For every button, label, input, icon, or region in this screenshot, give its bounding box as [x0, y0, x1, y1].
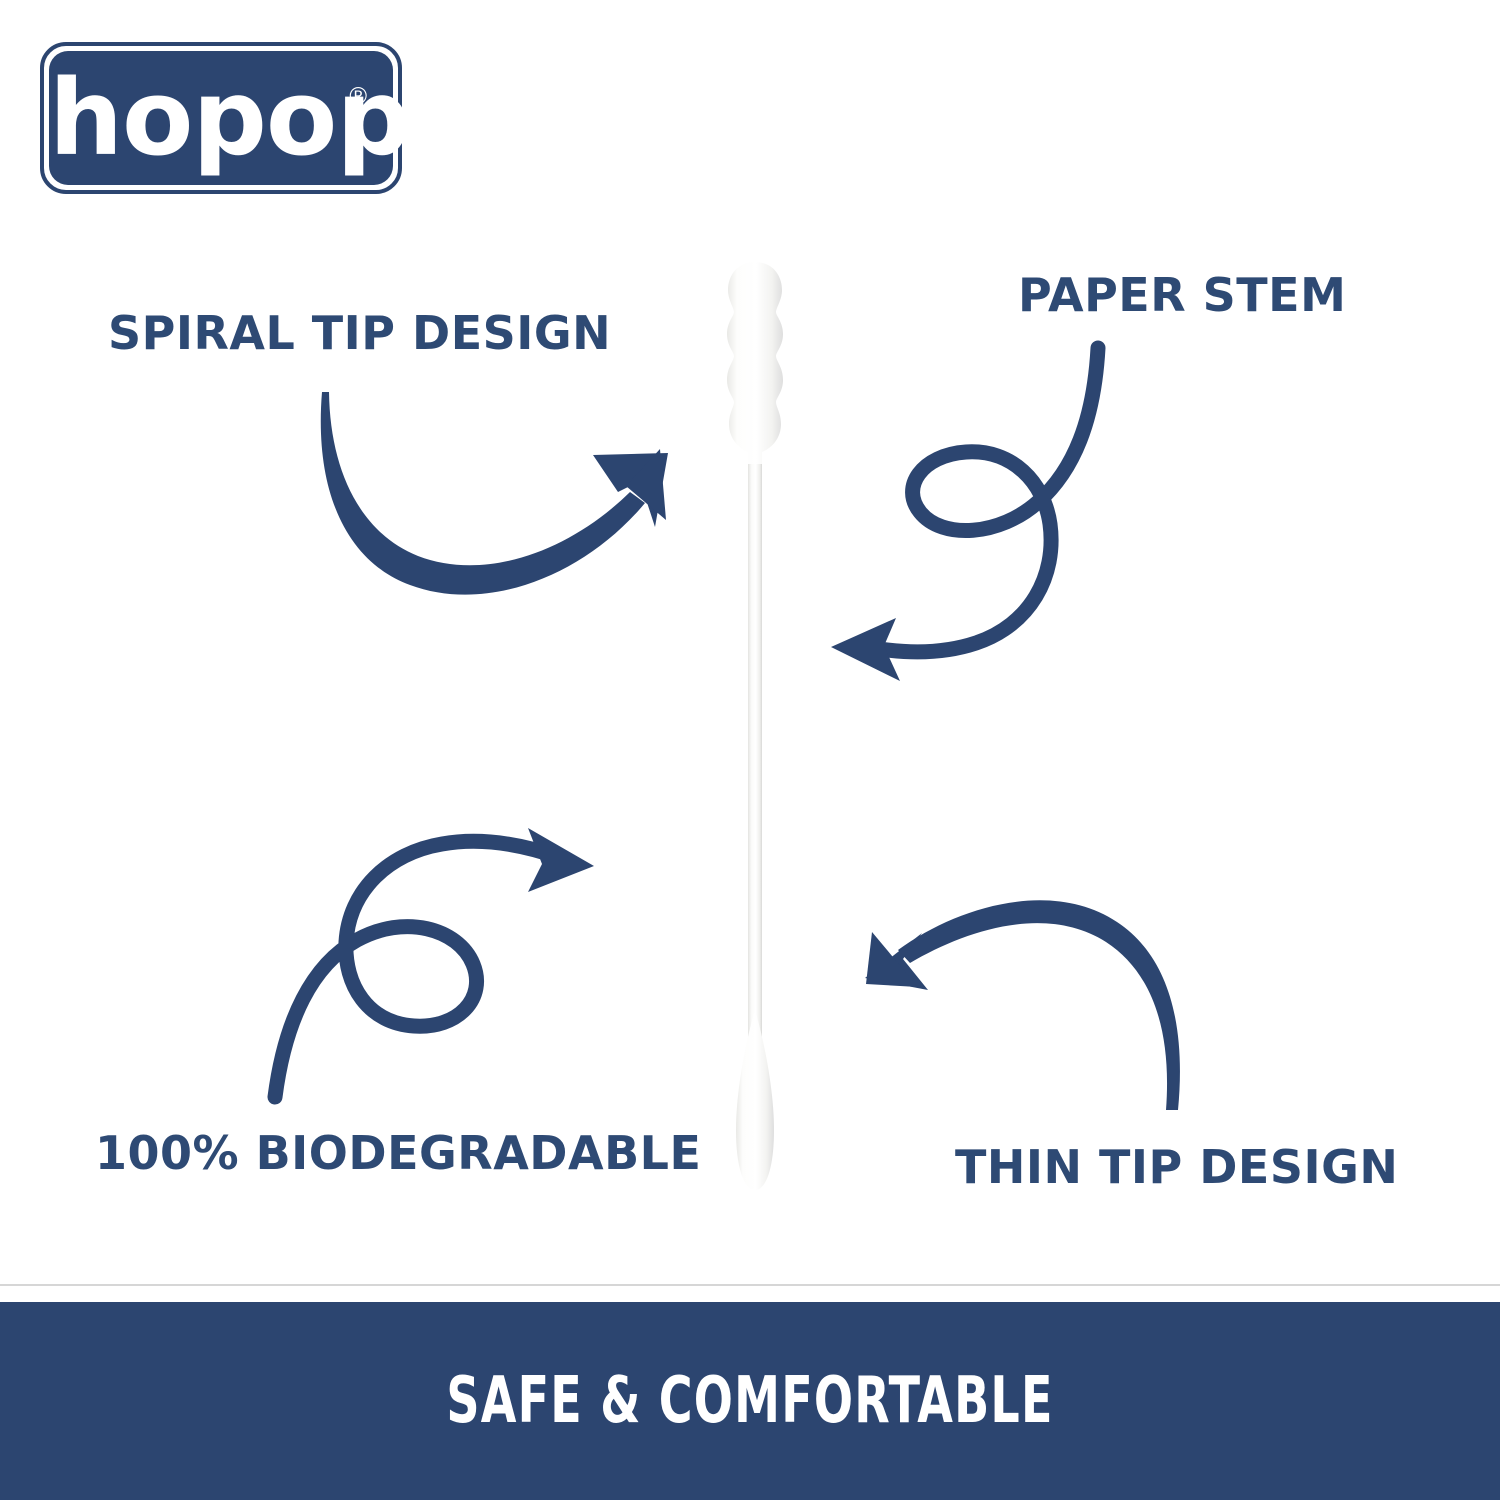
arrow-spiral-tip-icon: [321, 392, 668, 595]
arrow-biodegradable-head-icon: [528, 828, 594, 892]
arrow-paper-stem-head-icon: [831, 618, 900, 681]
tagline-banner: SAFE & COMFORTABLE: [0, 1302, 1500, 1500]
logo-inner-plate: hopop ®: [49, 51, 393, 185]
brand-logo: hopop ®: [40, 42, 402, 194]
feature-label-thin-tip: THIN TIP DESIGN: [955, 1140, 1398, 1194]
logo-wordmark: hopop: [49, 66, 393, 170]
arrow-thin-tip-icon: [865, 900, 1180, 1110]
feature-label-paper-stem: PAPER STEM: [1018, 268, 1346, 322]
registered-trademark-icon: ®: [349, 85, 367, 109]
feature-label-biodegradable: 100% BIODEGRADABLE: [95, 1126, 701, 1180]
arrow-biodegradable-icon: [275, 841, 561, 1097]
tagline-text: SAFE & COMFORTABLE: [150, 1364, 1350, 1438]
product-cotton-swab: [690, 250, 820, 1200]
swab-thin-tip: [736, 1010, 774, 1190]
bottom-divider: [0, 1284, 1500, 1286]
arrow-paper-stem-icon: [857, 348, 1098, 652]
infographic-canvas: hopop ® SPIRAL TIP DESIGN PAPER STEM 100…: [0, 0, 1500, 1500]
swab-spiral-tip: [727, 262, 783, 464]
feature-label-spiral-tip: SPIRAL TIP DESIGN: [108, 306, 611, 360]
